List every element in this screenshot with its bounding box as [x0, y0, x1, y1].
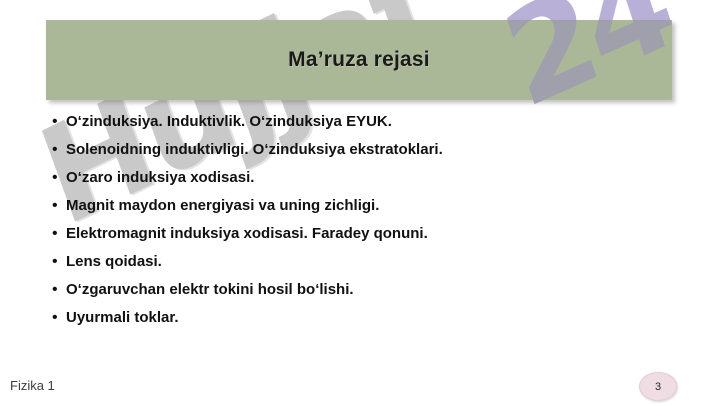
bullet-marker-icon: • [52, 108, 66, 136]
bullet-marker-icon: • [52, 136, 66, 164]
list-item-label: Lens qoidasi. [66, 248, 162, 276]
list-item-label: Uyurmali toklar. [66, 304, 179, 332]
list-item-label: Magnit maydon energiyasi va uning zichli… [66, 192, 379, 220]
page-number-text: 3 [655, 381, 661, 393]
bullet-marker-icon: • [52, 164, 66, 192]
bullet-marker-icon: • [52, 220, 66, 248]
list-item: • Elektromagnit induksiya xodisasi. Fara… [52, 220, 672, 248]
bullet-marker-icon: • [52, 304, 66, 332]
list-item-label: O‘zinduksiya. Induktivlik. O‘zinduksiya … [66, 108, 392, 136]
list-item-label: O‘zgaruvchan elektr tokini hosil bo‘lish… [66, 276, 354, 304]
list-item: • Magnit maydon energiyasi va uning zich… [52, 192, 672, 220]
list-item: • O‘zaro induksiya xodisasi. [52, 164, 672, 192]
list-item: • Solenoidning induktivligi. O‘zinduksiy… [52, 136, 672, 164]
list-item: • Uyurmali toklar. [52, 304, 672, 332]
watermark-24-overlay: 24 [492, 20, 672, 100]
list-item-label: Solenoidning induktivligi. O‘zinduksiya … [66, 136, 443, 164]
list-item: • Lens qoidasi. [52, 248, 672, 276]
bullet-list: • O‘zinduksiya. Induktivlik. O‘zinduksiy… [52, 108, 672, 332]
slide-canvas: Hujjat 24 24 Ma’ruza rejasi • O‘zinduksi… [0, 0, 720, 406]
list-item: • O‘zinduksiya. Induktivlik. O‘zinduksiy… [52, 108, 672, 136]
list-item-label: Elektromagnit induksiya xodisasi. Farade… [66, 220, 428, 248]
slide-title: Ma’ruza rejasi [288, 48, 430, 72]
page-number-badge: 3 [639, 372, 677, 401]
bullet-marker-icon: • [52, 248, 66, 276]
footer-course-label: Fizika 1 [10, 378, 55, 393]
list-item: • O‘zgaruvchan elektr tokini hosil bo‘li… [52, 276, 672, 304]
bullet-marker-icon: • [52, 192, 66, 220]
bullet-marker-icon: • [52, 276, 66, 304]
title-banner: 24 Ma’ruza rejasi [46, 20, 672, 100]
list-item-label: O‘zaro induksiya xodisasi. [66, 164, 254, 192]
